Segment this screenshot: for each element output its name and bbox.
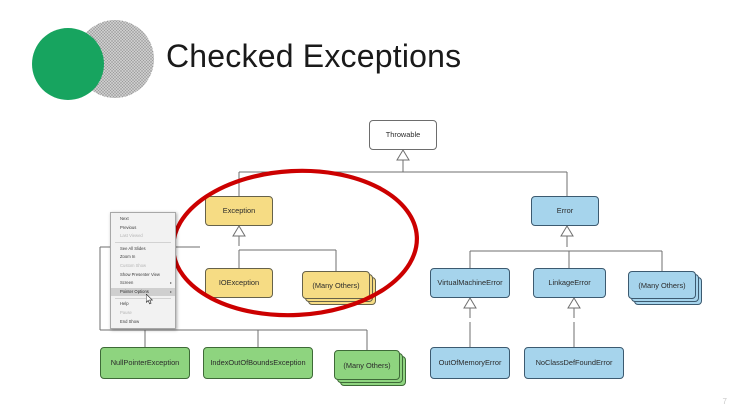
menu-item-zoom-in[interactable]: Zoom In [111, 253, 175, 262]
menu-item-see-all-slides[interactable]: See All Slides [111, 245, 175, 254]
chevron-right-icon [170, 282, 172, 284]
menu-item-pointer-options[interactable]: Pointer Options [111, 288, 175, 297]
class-node-exception[interactable]: Exception [205, 196, 273, 226]
class-node-leaf-many-others[interactable]: (Many Others) [334, 350, 406, 386]
presentation-slide: Checked Exceptions [0, 0, 740, 416]
class-node-outofmemoryerror[interactable]: OutOfMemoryError [430, 347, 510, 379]
class-node-virtualmachineerror[interactable]: VirtualMachineError [430, 268, 510, 298]
class-node-indexoutofboundsexception[interactable]: IndexOutOfBoundsException [203, 347, 313, 379]
page-number: 7 [723, 397, 727, 406]
class-hierarchy-diagram: Throwable Exception Error IOException (M… [0, 0, 740, 416]
menu-item-end-show[interactable]: End Show [111, 318, 175, 327]
mouse-pointer-icon [146, 294, 154, 305]
menu-item-help[interactable]: Help [111, 300, 175, 309]
class-node-throwable[interactable]: Throwable [369, 120, 437, 150]
menu-item-pause: Pause [111, 309, 175, 318]
menu-item-next[interactable]: Next [111, 215, 175, 224]
class-node-noclassdeffounderror[interactable]: NoClassDefFoundError [524, 347, 624, 379]
stack-layer-front: (Many Others) [302, 271, 370, 299]
menu-separator [115, 242, 171, 243]
class-node-exception-many-others[interactable]: (Many Others) [302, 271, 376, 305]
menu-item-screen[interactable]: Screen [111, 279, 175, 288]
menu-separator [115, 298, 171, 299]
menu-item-pointer-options-label: Pointer Options [120, 289, 149, 294]
menu-item-show-presenter-view[interactable]: Show Presenter View [111, 271, 175, 280]
class-node-error-many-others[interactable]: (Many Others) [628, 271, 702, 305]
class-node-error[interactable]: Error [531, 196, 599, 226]
class-node-ioexception[interactable]: IOException [205, 268, 273, 298]
class-node-linkageerror[interactable]: LinkageError [533, 268, 606, 298]
menu-item-last-viewed: Last Viewed [111, 232, 175, 241]
class-node-nullpointerexception[interactable]: NullPointerException [100, 347, 190, 379]
chevron-right-icon [170, 291, 172, 293]
stack-layer-front: (Many Others) [628, 271, 696, 299]
menu-item-custom-show: Custom Show [111, 262, 175, 271]
menu-item-screen-label: Screen [120, 280, 133, 285]
powerpoint-slideshow-context-menu[interactable]: Next Previous Last Viewed See All Slides… [110, 212, 176, 329]
menu-item-previous[interactable]: Previous [111, 224, 175, 233]
stack-layer-front: (Many Others) [334, 350, 400, 380]
